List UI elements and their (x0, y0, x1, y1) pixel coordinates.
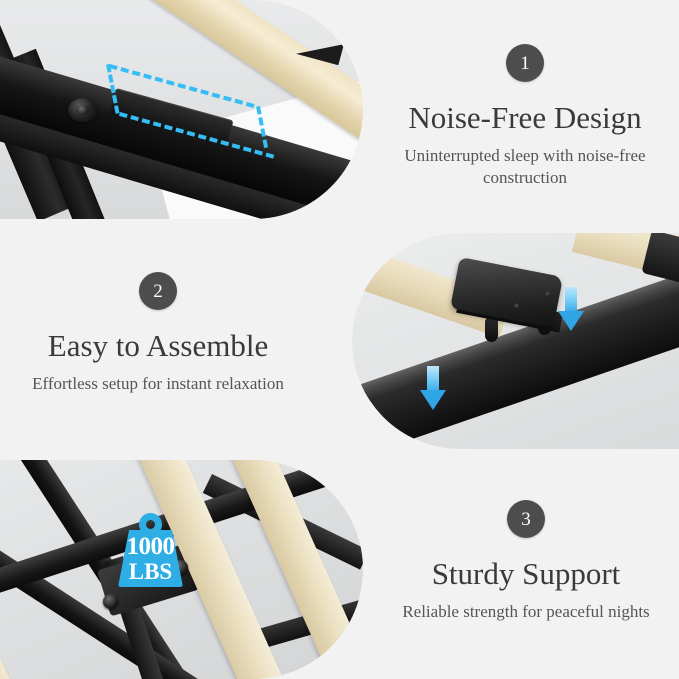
feature-1-title: Noise-Free Design (380, 100, 670, 136)
cap-screw-dot (514, 303, 519, 308)
feature-2-text-block: 2 Easy to Assemble Effortless setup for … (12, 272, 304, 395)
feature-3-subtitle: Reliable strength for peaceful nights (378, 601, 674, 623)
down-arrow-icon (420, 366, 446, 410)
feature-2-title: Easy to Assemble (12, 328, 304, 364)
screw-head-icon (68, 98, 98, 122)
weight-capacity-badge: 1000 LBS (113, 513, 188, 591)
feature-1-subtitle: Uninterrupted sleep with noise-free cons… (380, 145, 670, 190)
cap-pin (485, 318, 498, 342)
easy-to-assemble-photo (352, 233, 679, 449)
feature-1-number-badge: 1 (506, 44, 544, 82)
noise-free-design-photo (0, 0, 363, 219)
weight-value: 1000 (113, 534, 188, 560)
down-arrow-icon (558, 287, 584, 331)
weight-unit: LBS (113, 560, 188, 583)
feature-2-subtitle: Effortless setup for instant relaxation (12, 373, 304, 395)
bolt-head (103, 594, 118, 609)
feature-1-text-block: 1 Noise-Free Design Uninterrupted sleep … (380, 44, 670, 190)
feature-3-title: Sturdy Support (378, 556, 674, 592)
product-feature-infographic: 1 Noise-Free Design Uninterrupted sleep … (0, 0, 679, 679)
feature-3-text-block: 3 Sturdy Support Reliable strength for p… (378, 500, 674, 623)
cap-screw-dot (545, 291, 550, 296)
weight-badge-text: 1000 LBS (113, 534, 188, 583)
feature-3-number-badge: 3 (507, 500, 545, 538)
feature-2-number-badge: 2 (139, 272, 177, 310)
